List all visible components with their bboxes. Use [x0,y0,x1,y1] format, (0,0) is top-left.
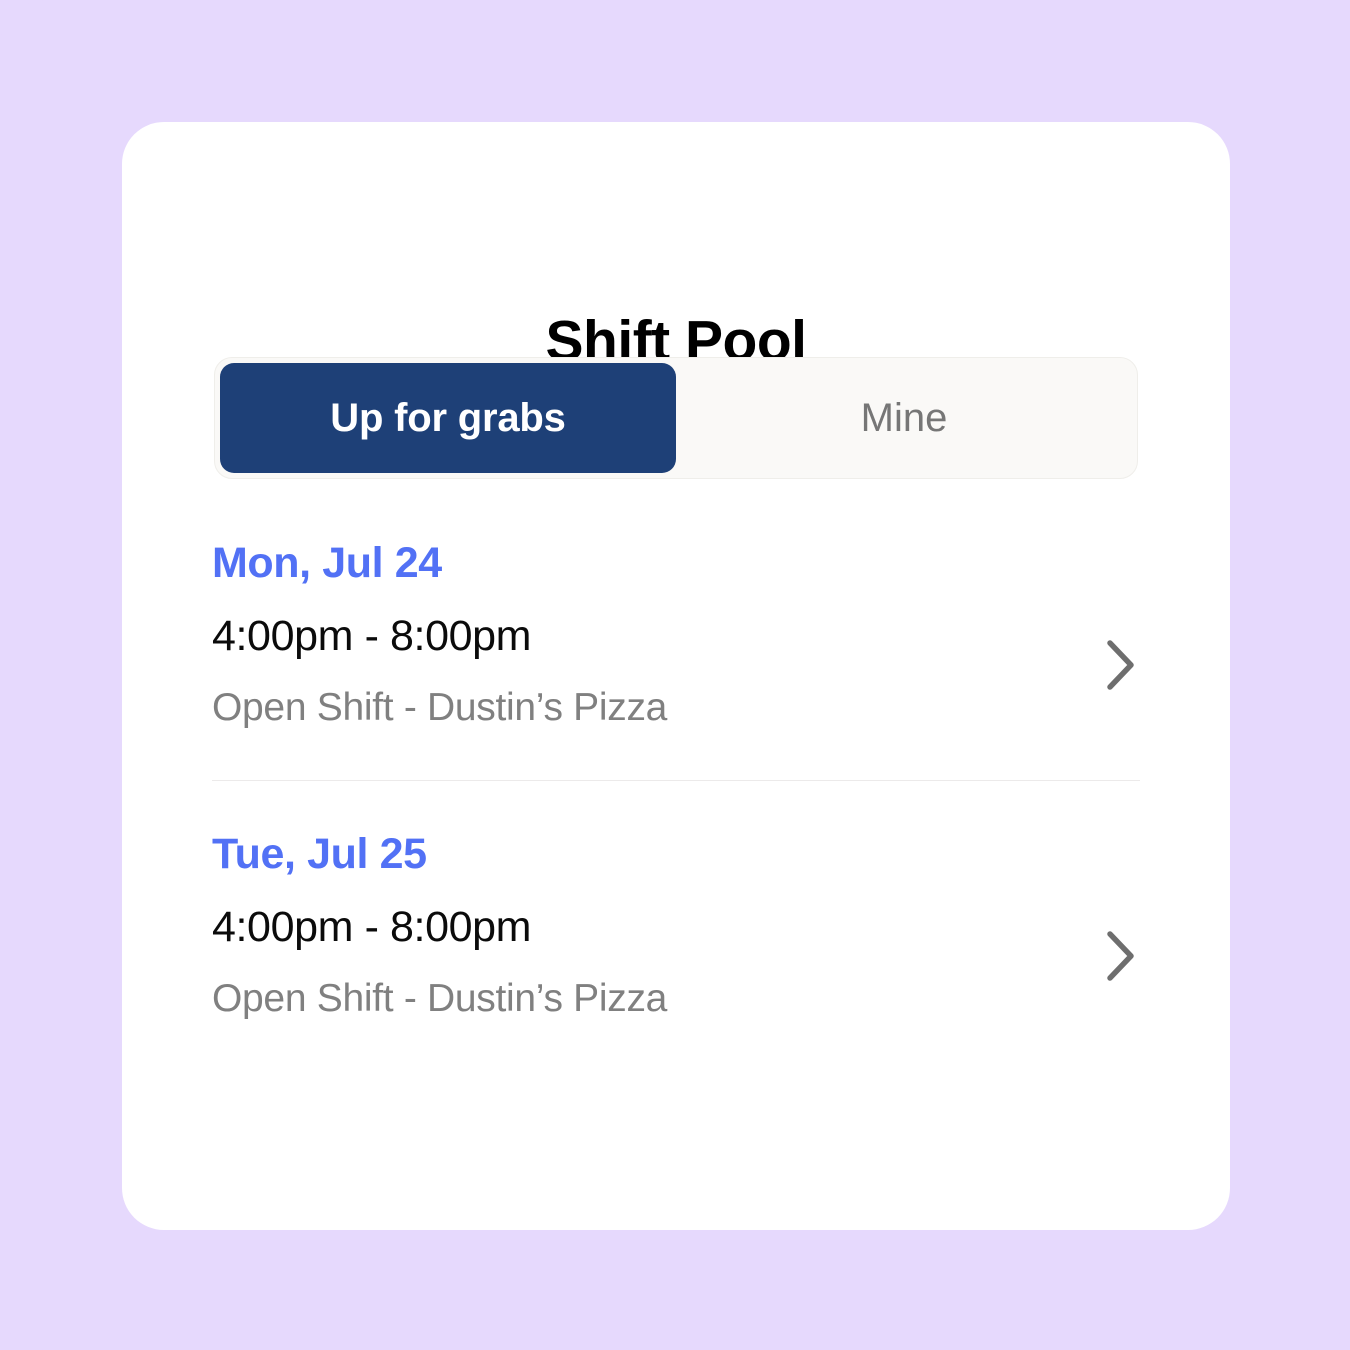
list-item[interactable]: Tue, Jul 25 4:00pm - 8:00pm Open Shift -… [212,833,1140,1018]
shift-pool-card: Shift Pool Up for grabs Mine Mon, Jul 24… [122,122,1230,1230]
shift-date: Mon, Jul 24 [212,542,1140,585]
shift-description: Open Shift - Dustin’s Pizza [212,688,1140,727]
shift-filter-segmented-control[interactable]: Up for grabs Mine [214,357,1138,479]
tab-mine[interactable]: Mine [676,363,1132,473]
list-item[interactable]: Mon, Jul 24 4:00pm - 8:00pm Open Shift -… [212,542,1140,727]
shift-time: 4:00pm - 8:00pm [212,906,1140,949]
list-divider [212,780,1140,781]
tab-up-for-grabs[interactable]: Up for grabs [220,363,676,473]
shift-list: Mon, Jul 24 4:00pm - 8:00pm Open Shift -… [212,542,1140,1018]
shift-description: Open Shift - Dustin’s Pizza [212,979,1140,1018]
shift-date: Tue, Jul 25 [212,833,1140,876]
shift-time: 4:00pm - 8:00pm [212,615,1140,658]
